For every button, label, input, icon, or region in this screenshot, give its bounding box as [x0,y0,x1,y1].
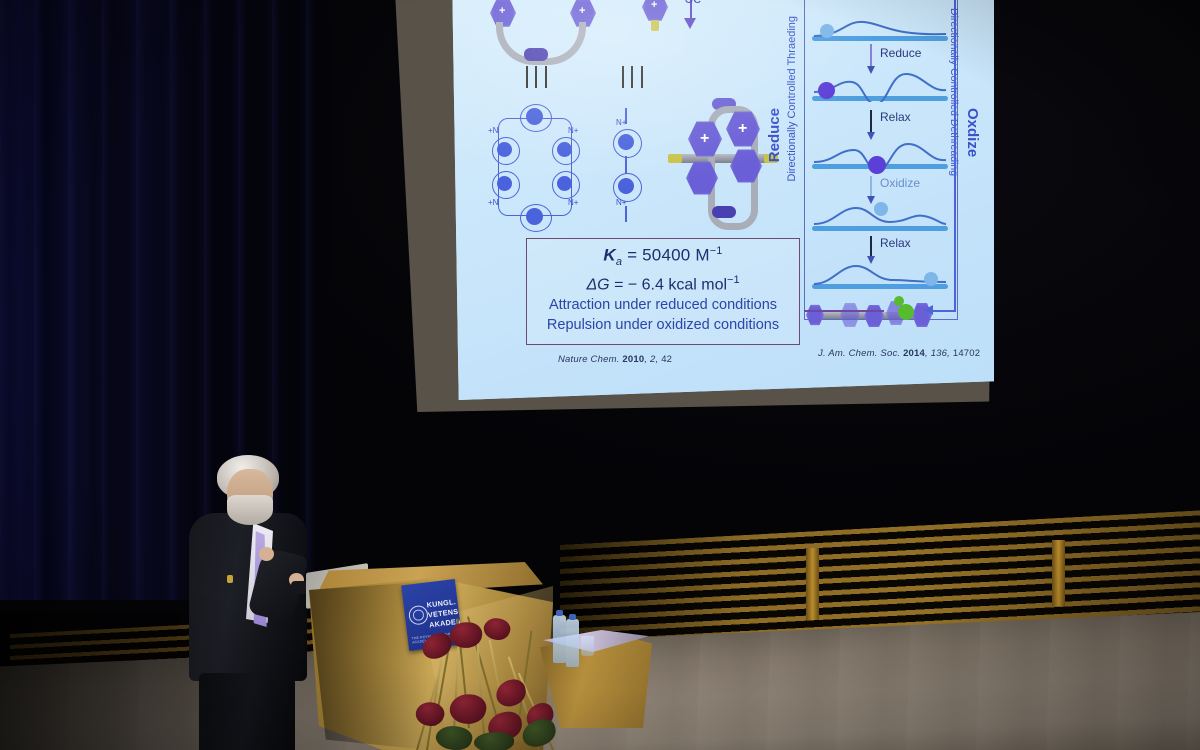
label-reduce-bold: Reduce [766,108,783,162]
foliage-leaf [474,731,515,750]
step-label-relax-1: Relax [880,110,911,124]
molecule-dethreaded-bottom [802,296,952,338]
photo-scene: + + + + + + [0,0,1200,750]
anthurium-flower [481,614,513,644]
step-label-reduce: Reduce [880,46,921,60]
electron-label: −3e− [676,0,710,7]
flower-arrangement [392,608,582,750]
label-oxidize-bold: Oxdize [964,108,981,157]
bead-dark [818,82,835,99]
citation-nature-chem: Nature Chem. 2010, 2, 42 [558,354,672,365]
arrow-relax-1 [870,110,872,134]
citation-jacs: J. Am. Chem. Soc. 2014, 136, 14702 [818,348,980,359]
presentation-slide: + + + + + + [450,0,994,400]
step-label-oxidize: Oxidize [880,176,920,190]
speaker-beard [227,495,273,525]
screen-surface: + + + + + + [450,0,994,400]
equation-box: Ka = 50400 M−1 ΔG = − 6.4 kcal mol−1 Att… [526,238,800,345]
bead-light [820,24,834,38]
equation-note-attraction: Attraction under reduced conditions [527,298,799,313]
drinking-glass [581,636,594,656]
equation-note-repulsion: Repulsion under oxidized conditions [527,318,799,333]
bead-dark [868,156,886,174]
foliage-leaf [519,716,558,749]
equivalence-mark-left [526,66,547,93]
slat-post [1052,540,1065,606]
arrow-reduce [870,44,872,68]
bead-light [874,202,888,216]
lapel-pin [227,575,233,583]
projection-screen: + + + + + + [392,0,994,412]
equation-ka: Ka = 50400 M−1 [527,246,799,268]
speaker-legs [199,673,295,750]
equivalence-mark-right [622,66,643,93]
arrow-relax-2 [870,236,872,258]
equation-delta-g: ΔG = − 6.4 kcal mol−1 [527,275,799,293]
bead-light [924,272,938,286]
label-reduce-sub: Directionally Controlled Thraeding [786,16,798,182]
step-label-relax-2: Relax [880,236,911,250]
anthurium-flower [413,698,447,729]
arrow-oxidize [870,176,872,198]
speaker-hand-left [259,547,274,561]
slat-post [806,548,819,620]
anthurium-flower [448,620,483,650]
